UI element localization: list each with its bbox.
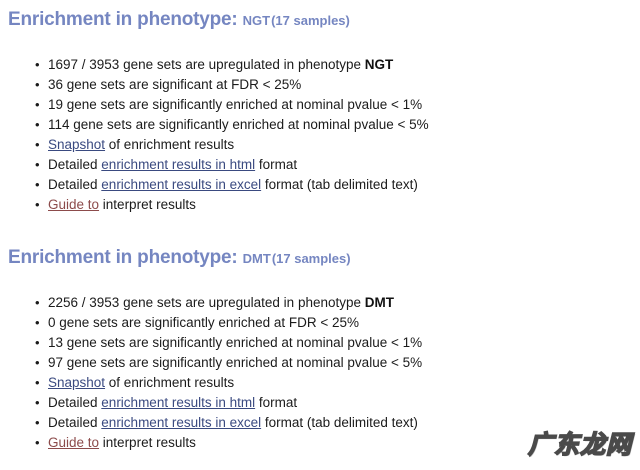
list-item: 1697 / 3953 gene sets are upregulated in… [0, 55, 640, 75]
list-item: 97 gene sets are significantly enriched … [0, 353, 640, 373]
enrichment-section-ngt: Enrichment in phenotype: NGT(17 samples)… [0, 8, 640, 215]
list-item-text: interpret results [99, 435, 196, 450]
list-item-text: Detailed [48, 177, 101, 192]
list-item-text: format [255, 157, 297, 172]
enrichment-summary-list: 1697 / 3953 gene sets are upregulated in… [0, 55, 640, 215]
list-item-text: of enrichment results [105, 375, 234, 390]
list-item-text: interpret results [99, 197, 196, 212]
result-link[interactable]: Snapshot [48, 375, 105, 390]
list-item: 36 gene sets are significant at FDR < 25… [0, 75, 640, 95]
list-item-text: Detailed [48, 395, 101, 410]
section-heading-prefix: Enrichment in phenotype: [8, 9, 238, 30]
result-link[interactable]: enrichment results in html [101, 157, 255, 172]
list-item-text: 0 gene sets are significantly enriched a… [48, 315, 359, 330]
list-item-text: Detailed [48, 157, 101, 172]
list-item-text: 19 gene sets are significantly enriched … [48, 97, 422, 112]
list-item-text: format (tab delimited text) [261, 177, 418, 192]
phenotype-label: NGT [365, 57, 394, 72]
list-item-text: Detailed [48, 415, 101, 430]
list-item: 114 gene sets are significantly enriched… [0, 115, 640, 135]
list-item: 0 gene sets are significantly enriched a… [0, 313, 640, 333]
result-link[interactable]: Snapshot [48, 137, 105, 152]
phenotype-label: DMT [365, 295, 394, 310]
list-item: 19 gene sets are significantly enriched … [0, 95, 640, 115]
result-link[interactable]: enrichment results in excel [101, 415, 261, 430]
list-item: Detailed enrichment results in html form… [0, 155, 640, 175]
enrichment-section-dmt: Enrichment in phenotype: DMT(17 samples)… [0, 246, 640, 453]
list-item-text: 97 gene sets are significantly enriched … [48, 355, 422, 370]
report-page: Enrichment in phenotype: NGT(17 samples)… [0, 0, 640, 470]
site-watermark: 广东龙网 [528, 432, 632, 457]
list-item: Snapshot of enrichment results [0, 135, 640, 155]
list-item: 2256 / 3953 gene sets are upregulated in… [0, 293, 640, 313]
list-item: Detailed enrichment results in html form… [0, 393, 640, 413]
list-item: 13 gene sets are significantly enriched … [0, 333, 640, 353]
section-heading-phenotype: NGT [243, 13, 270, 28]
result-link[interactable]: Guide to [48, 435, 99, 450]
section-heading: Enrichment in phenotype: NGT(17 samples) [0, 8, 640, 33]
list-item-text: of enrichment results [105, 137, 234, 152]
list-item-text: format [255, 395, 297, 410]
list-item: Detailed enrichment results in excel for… [0, 175, 640, 195]
list-item-text: 2256 / 3953 gene sets are upregulated in… [48, 295, 365, 310]
result-link[interactable]: Guide to [48, 197, 99, 212]
list-item-text: format (tab delimited text) [261, 415, 418, 430]
section-heading: Enrichment in phenotype: DMT(17 samples) [0, 246, 640, 271]
section-heading-samples: (17 samples) [272, 251, 351, 266]
enrichment-summary-list: 2256 / 3953 gene sets are upregulated in… [0, 293, 640, 453]
section-heading-suffix: DMT(17 samples) [243, 251, 351, 266]
list-item-text: 114 gene sets are significantly enriched… [48, 117, 429, 132]
list-item-text: 1697 / 3953 gene sets are upregulated in… [48, 57, 365, 72]
section-heading-phenotype: DMT [243, 251, 271, 266]
result-link[interactable]: enrichment results in html [101, 395, 255, 410]
list-item-text: 13 gene sets are significantly enriched … [48, 335, 422, 350]
section-heading-prefix: Enrichment in phenotype: [8, 247, 238, 268]
section-heading-samples: (17 samples) [271, 13, 350, 28]
list-item: Snapshot of enrichment results [0, 373, 640, 393]
result-link[interactable]: enrichment results in excel [101, 177, 261, 192]
list-item: Guide to interpret results [0, 195, 640, 215]
section-heading-suffix: NGT(17 samples) [243, 13, 350, 28]
list-item-text: 36 gene sets are significant at FDR < 25… [48, 77, 301, 92]
